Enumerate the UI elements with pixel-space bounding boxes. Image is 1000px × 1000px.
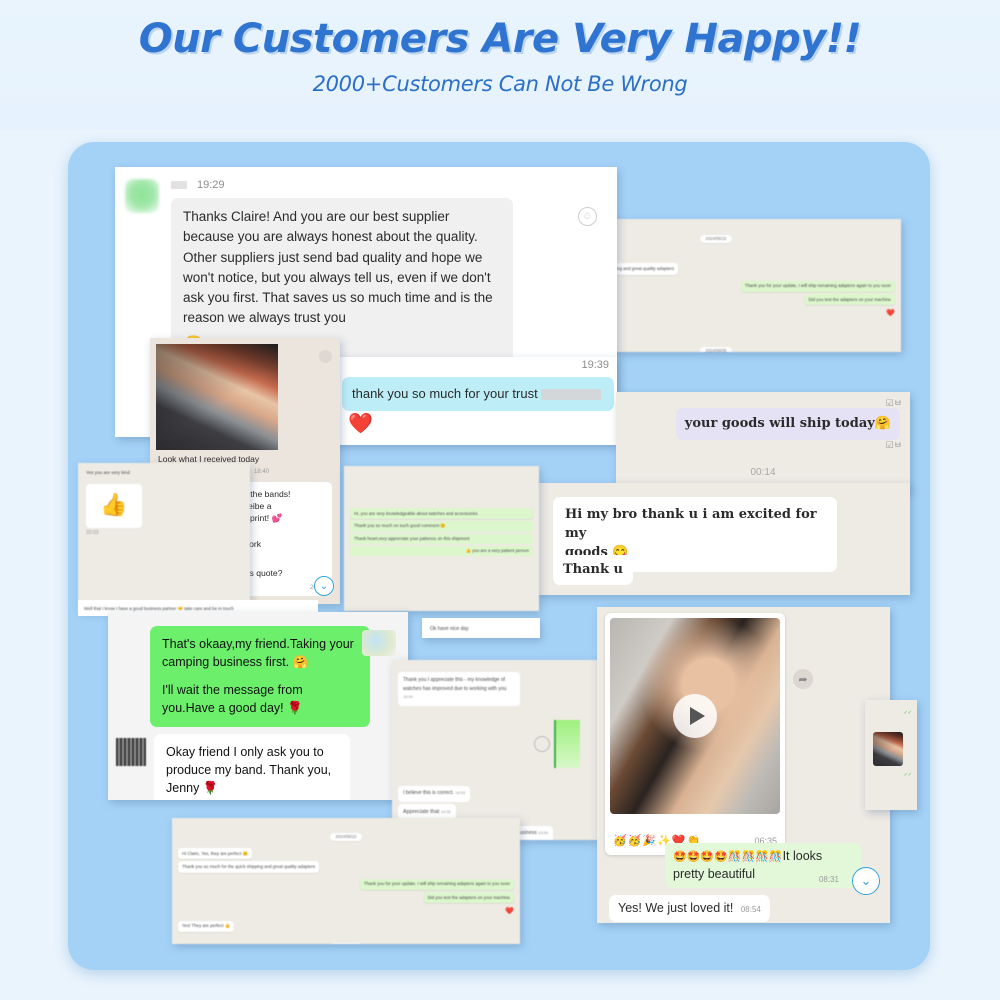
chat-line: Hi Claire, Yes, they are perfect 😊: [178, 848, 252, 859]
chevron-down-circle-icon[interactable]: ⌄: [314, 576, 334, 596]
chat-line: Yes you are very kind: [86, 469, 242, 478]
excited-goods-card[interactable]: Hi my bro thank u i am excited for my go…: [535, 483, 910, 595]
message-text: Appreciate that: [403, 809, 439, 815]
redacted-name: [171, 181, 187, 189]
message-line: I'll wait the message from: [162, 681, 358, 699]
message-time: 18:55: [441, 809, 451, 814]
message-line: That's okaay,my friend.Taking your: [162, 635, 358, 653]
chat-line: 👍 you are a very patient person: [350, 546, 533, 556]
chat-line: Thank you for your update, I will ship r…: [360, 879, 514, 890]
chat-line: Thank you so much on such good comment 😊: [350, 521, 533, 531]
chat-line: Thank you so much for the quick shipping…: [178, 861, 319, 872]
patient-person-card[interactable]: Hi, you are very knowledgeable about wat…: [344, 466, 539, 611]
refresh-icon: [319, 350, 332, 363]
date-chip: 2024/05/22: [330, 833, 363, 841]
message-line: camping business first. 🤗: [162, 653, 358, 671]
avatar: [125, 179, 159, 213]
side-thumbnail-image: [873, 732, 903, 766]
chevron-down-circle-icon[interactable]: ⌄: [852, 867, 880, 895]
praise-text-1: It looks: [783, 849, 823, 863]
page-subtitle: 2000+Customers Can Not Be Wrong: [0, 72, 1000, 96]
chat-line: Did you test the adapters on your machin…: [805, 294, 896, 305]
message-text: thank you so much for your trust: [352, 386, 538, 401]
incoming-bubble: Okay friend I only ask you to produce my…: [154, 734, 350, 800]
thumbs-up-emoji: 👍: [100, 493, 127, 518]
reply-text: Yes! We just loved it!: [618, 901, 733, 915]
message-time: 19:39: [581, 359, 609, 371]
message-time: 18:56: [538, 830, 548, 835]
date-chip: 2024/06/05: [330, 943, 363, 944]
reaction-heart-icon: ❤️: [348, 411, 373, 435]
redacted-name: [541, 389, 601, 400]
date-chip: 2024/05/22: [700, 235, 733, 243]
watches-knowledge-card[interactable]: Thank you I appreciate this - my knowled…: [392, 660, 602, 840]
voice-note-bar: [554, 720, 580, 768]
date-chip: 2024/06/05: [700, 347, 733, 352]
nice-day-strip: Ok have nice day: [422, 618, 540, 638]
message-bubble: thank you so much for your trust: [342, 377, 614, 411]
read-receipt-icon: ✓✓: [904, 772, 912, 778]
chat-line: Did you test the adapters on your machin…: [424, 892, 515, 903]
avatar: [116, 738, 146, 766]
reply-bubble: Yes! We just loved it! 08:54: [609, 895, 770, 922]
message-time: 18:54: [403, 694, 413, 699]
adapters-chat-card-bottom[interactable]: 2024/05/22 Hi Claire, Yes, they are perf…: [172, 818, 520, 944]
trust-card[interactable]: 19:39 thank you so much for your trust ❤…: [322, 357, 617, 445]
praise-emojis: 🤩🤩🤩🤩🎊🎊🎊🎊: [673, 850, 783, 863]
chat-line: Yes! They are perfect 👍: [178, 921, 234, 932]
message-time: 20:03: [86, 530, 242, 536]
chat-line: I believe this is correct. 18:55: [398, 786, 470, 802]
message-text: your goods will ship today: [685, 416, 875, 431]
message-time: 08:31: [819, 874, 839, 885]
smiley-face-icon[interactable]: ☺: [578, 207, 597, 226]
message-line: Hi my bro thank u i am excited for my: [565, 506, 825, 544]
message-bubble: your goods will ship today🤗: [676, 408, 900, 440]
footer-text: Ok have nice day: [430, 625, 532, 635]
message-bubble-2: Thank u: [553, 555, 633, 585]
chat-line: Thank you for your update, I will ship r…: [741, 281, 895, 292]
message-line: Okay friend I only ask you to: [166, 743, 338, 761]
photo-time: 18:40: [254, 469, 269, 475]
message-time: 18:55: [455, 790, 465, 795]
praise-bubble: 🤩🤩🤩🤩🎊🎊🎊🎊It looks pretty beautiful 08:31: [665, 843, 861, 888]
watch-video-thumbnail[interactable]: [610, 618, 780, 814]
chat-line: Thank heart,very appreciate your patienc…: [350, 534, 533, 544]
thumbs-up-card[interactable]: Yes you are very kind 👍 20:03: [78, 463, 250, 611]
read-receipt-icon: ☑ㅂ: [886, 438, 902, 451]
read-receipt-icon: ✓✓: [904, 710, 912, 716]
play-circle-icon[interactable]: [534, 736, 550, 752]
timestamp: 00:14: [750, 467, 775, 478]
message-line: you.Have a good day! 🌹: [162, 699, 358, 717]
message-line: produce my band. Thank you,: [166, 761, 338, 779]
chat-line: Hi, you are very knowledgeable about wat…: [350, 508, 533, 519]
side-thumbnail-card[interactable]: ✓✓ ✓✓: [865, 700, 917, 810]
page-header: Our Customers Are Very Happy!! 2000+Cust…: [0, 0, 1000, 130]
play-button-icon[interactable]: [673, 694, 717, 738]
message-line: Jenny 🌹: [166, 779, 338, 797]
reaction-heart-icon: ❤️: [178, 905, 514, 918]
page-title: Our Customers Are Very Happy!!: [0, 0, 1000, 62]
message-time: 19:29: [197, 179, 225, 191]
message-text: Thanks Claire! And you are our best supp…: [183, 209, 493, 325]
ship-today-card[interactable]: ☑ㅂ your goods will ship today🤗 ☑ㅂ 00:14: [616, 392, 910, 492]
message-text: Thank you I appreciate this - my knowled…: [403, 677, 506, 692]
cartoon-sticker: [362, 630, 396, 656]
outgoing-bubble: That's okaay,my friend.Taking your campi…: [150, 626, 370, 727]
camping-business-card[interactable]: That's okaay,my friend.Taking your campi…: [108, 612, 408, 800]
received-bands-photo: [156, 344, 278, 450]
message-text: I believe this is correct.: [403, 790, 454, 796]
forward-arrow-icon[interactable]: ➦: [793, 669, 813, 689]
hug-emoji: 🤗: [875, 416, 891, 431]
message-time: 08:54: [741, 905, 761, 914]
chat-line: Thank you I appreciate this - my knowled…: [398, 672, 520, 706]
watch-video-card[interactable]: 🥳🥳🎉✨❤️👏 06:35 ➦ 🤩🤩🤩🤩🎊🎊🎊🎊It looks pretty …: [597, 607, 890, 923]
